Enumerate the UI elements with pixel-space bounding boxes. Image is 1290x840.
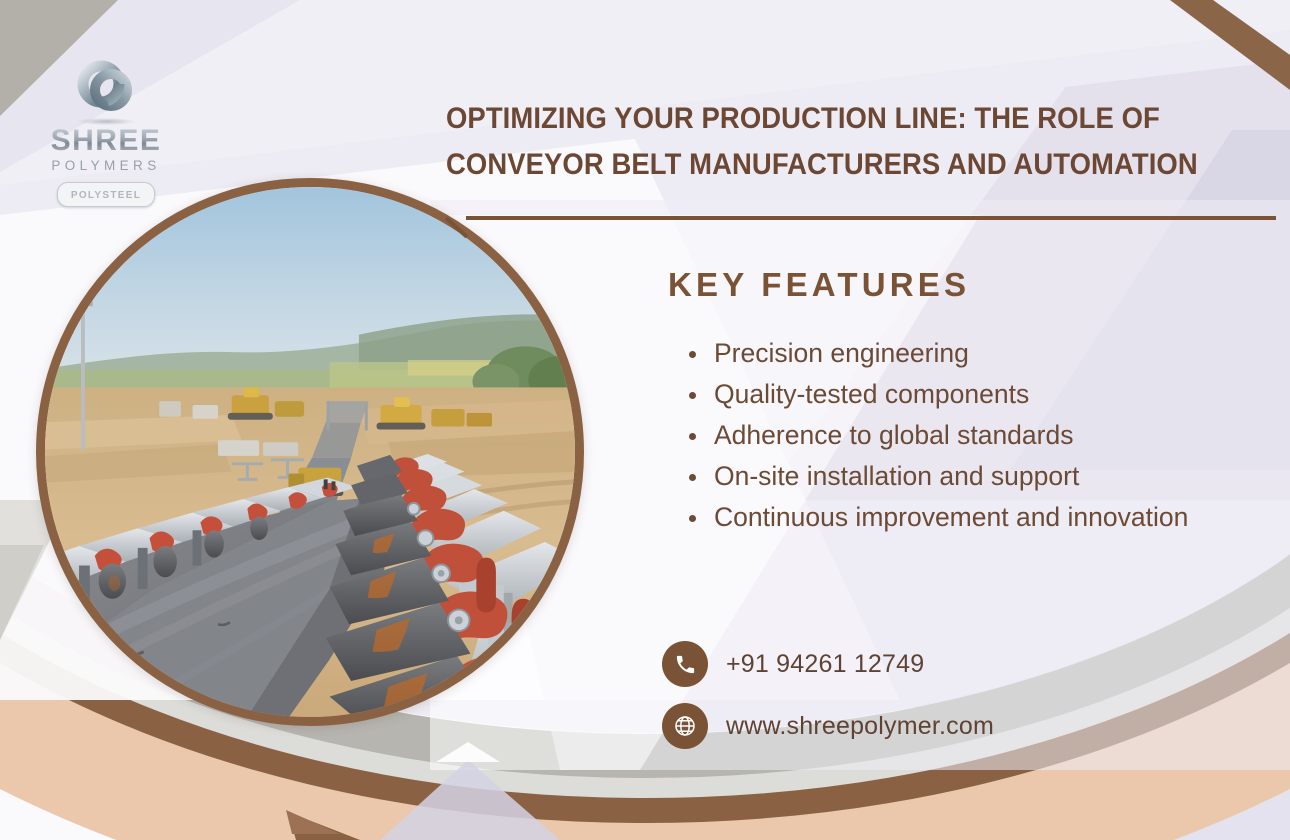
brand-logo: SHREE POLYMERS POLYSTEEL — [36, 58, 176, 198]
contact-website-row[interactable]: www.shreepolymer.com — [662, 695, 994, 757]
brand-name: SHREE — [51, 126, 162, 156]
globe-icon — [662, 703, 708, 749]
interlocking-rings-logo-icon — [73, 58, 139, 124]
conveyor-belt-photo — [36, 178, 584, 726]
list-item: Continuous improvement and innovation — [684, 497, 1244, 538]
conveyor-photo-frame — [36, 178, 584, 726]
polysteel-badge-label: POLYSTEEL — [71, 190, 141, 201]
title-divider — [466, 216, 1276, 220]
poster-canvas: SHREE POLYMERS POLYSTEEL — [0, 0, 1290, 840]
list-item: On-site installation and support — [684, 456, 1244, 497]
contact-block: +91 94261 12749 www.shreepolymer.com — [662, 633, 994, 757]
list-item: Precision engineering — [684, 333, 1244, 374]
key-features-list: Precision engineering Quality-tested com… — [684, 333, 1244, 538]
polysteel-badge: POLYSTEEL — [57, 182, 155, 208]
logo-shadow — [77, 118, 135, 125]
key-features-heading: KEY FEATURES — [668, 266, 970, 304]
contact-phone-row[interactable]: +91 94261 12749 — [662, 633, 994, 695]
list-item: Quality-tested components — [684, 374, 1244, 415]
page-title: OPTIMIZING YOUR PRODUCTION LINE: THE ROL… — [446, 96, 1218, 189]
phone-number[interactable]: +91 94261 12749 — [726, 650, 924, 679]
phone-icon — [662, 641, 708, 687]
list-item: Adherence to global standards — [684, 415, 1244, 456]
brand-subtitle: POLYMERS — [51, 159, 160, 173]
website-url[interactable]: www.shreepolymer.com — [726, 712, 994, 741]
